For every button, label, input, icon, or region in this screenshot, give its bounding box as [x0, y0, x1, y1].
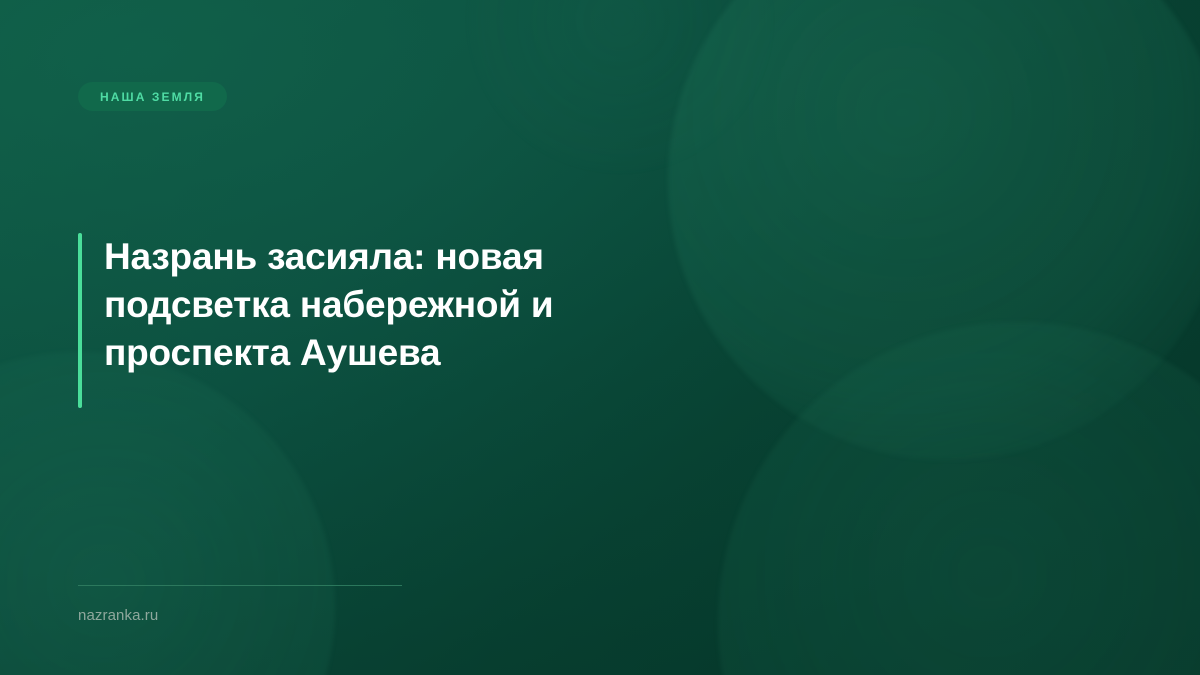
category-badge-label: НАША ЗЕМЛЯ	[100, 91, 205, 103]
card-footer: nazranka.ru	[78, 585, 402, 623]
headline-block: Назрань засияла: новая подсветка набереж…	[78, 233, 553, 408]
page-title-line-1: Назрань засияла: новая	[104, 233, 553, 281]
category-badge[interactable]: НАША ЗЕМЛЯ	[78, 82, 227, 111]
page-title: Назрань засияла: новая подсветка набереж…	[82, 233, 553, 408]
page-title-line-3: проспекта Аушева	[104, 329, 553, 377]
page-title-line-2: подсветка набережной и	[104, 281, 553, 329]
footer-divider	[78, 585, 402, 586]
site-url: nazranka.ru	[78, 608, 402, 623]
card-content: НАША ЗЕМЛЯ Назрань засияла: новая подсве…	[0, 0, 1200, 675]
social-share-card: НАША ЗЕМЛЯ Назрань засияла: новая подсве…	[0, 0, 1200, 675]
